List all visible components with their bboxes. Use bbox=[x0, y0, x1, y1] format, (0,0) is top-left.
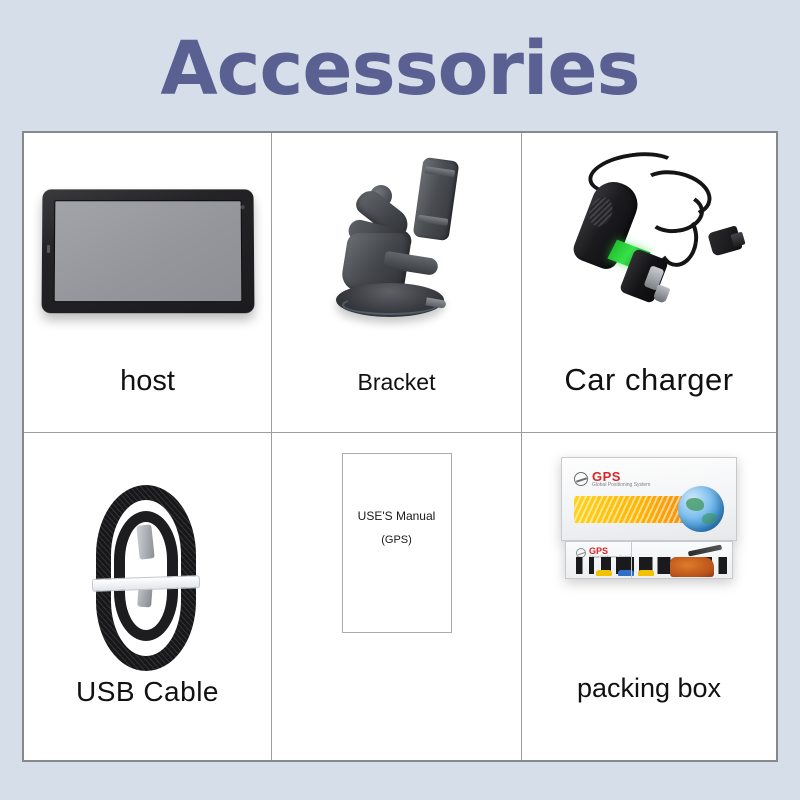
box-honeycomb-graphic bbox=[574, 496, 692, 523]
accessories-grid: host Brack bbox=[22, 131, 778, 762]
box-front-panel: GPS Global Positioning System bbox=[565, 541, 733, 579]
accessory-label-packing-box: packing box bbox=[522, 673, 776, 760]
accessory-label-car-charger: Car charger bbox=[522, 362, 776, 432]
manual-cover-subtitle: (GPS) bbox=[343, 534, 451, 546]
accessory-label-bracket: Bracket bbox=[272, 369, 521, 432]
accessory-cell-usb-cable[interactable]: USB Cable bbox=[24, 433, 272, 760]
box-brand-logo: GPS Global Positioning System bbox=[574, 470, 650, 489]
accessory-cell-host[interactable]: host bbox=[24, 133, 272, 433]
accessory-cell-car-charger[interactable]: Car charger bbox=[522, 133, 776, 433]
device-sensor-icon bbox=[240, 205, 244, 209]
device-indicator-icon bbox=[46, 245, 49, 253]
manual-cover-title: USE'S Manual bbox=[343, 509, 451, 523]
box-accent-graphic bbox=[670, 557, 714, 577]
packing-box-artwork: GPS Global Positioning System GPS bbox=[522, 433, 776, 673]
bracket-artwork bbox=[272, 133, 521, 369]
gps-logo-mark-icon bbox=[574, 472, 588, 486]
packing-box-icon: GPS Global Positioning System GPS bbox=[561, 457, 737, 581]
accessories-infographic: Accessories host bbox=[0, 0, 800, 800]
accessory-label-usb-cable: USB Cable bbox=[24, 676, 271, 760]
bracket-clip-top bbox=[424, 166, 455, 177]
usb-cable-artwork bbox=[24, 433, 271, 676]
box-vehicle-graphic bbox=[638, 570, 654, 576]
accessory-cell-bracket[interactable]: Bracket bbox=[272, 133, 522, 433]
box-panel-seam bbox=[631, 541, 632, 579]
bracket-clip-bottom bbox=[417, 215, 448, 226]
box-vehicle-graphic bbox=[596, 570, 612, 576]
car-charger-icon bbox=[554, 149, 744, 324]
usb-connector-a bbox=[136, 524, 154, 559]
user-manual-booklet-icon: USE'S Manual (GPS) bbox=[342, 453, 452, 633]
charger-plug-nose bbox=[730, 232, 745, 248]
accessory-cell-packing-box[interactable]: GPS Global Positioning System GPS bbox=[522, 433, 776, 760]
accessory-cell-manual[interactable]: USE'S Manual (GPS) bbox=[272, 433, 522, 760]
box-globe-graphic-icon bbox=[678, 486, 724, 532]
accessory-label-host: host bbox=[24, 365, 271, 432]
manual-artwork: USE'S Manual (GPS) bbox=[272, 433, 521, 760]
page-title: Accessories bbox=[0, 26, 800, 112]
suction-cup-mount-icon bbox=[322, 159, 472, 329]
host-artwork bbox=[24, 133, 271, 365]
bracket-suction-rim bbox=[342, 295, 438, 315]
box-pointer-graphic-icon bbox=[688, 545, 722, 557]
usb-cable-coil-icon bbox=[88, 485, 208, 685]
device-screen bbox=[53, 200, 242, 302]
box-brand-tagline: Global Positioning System bbox=[592, 483, 650, 489]
bracket-cradle bbox=[412, 157, 459, 241]
box-top-panel: GPS Global Positioning System bbox=[561, 457, 737, 541]
gps-navigation-device-icon bbox=[41, 189, 254, 313]
car-charger-artwork bbox=[522, 133, 776, 362]
